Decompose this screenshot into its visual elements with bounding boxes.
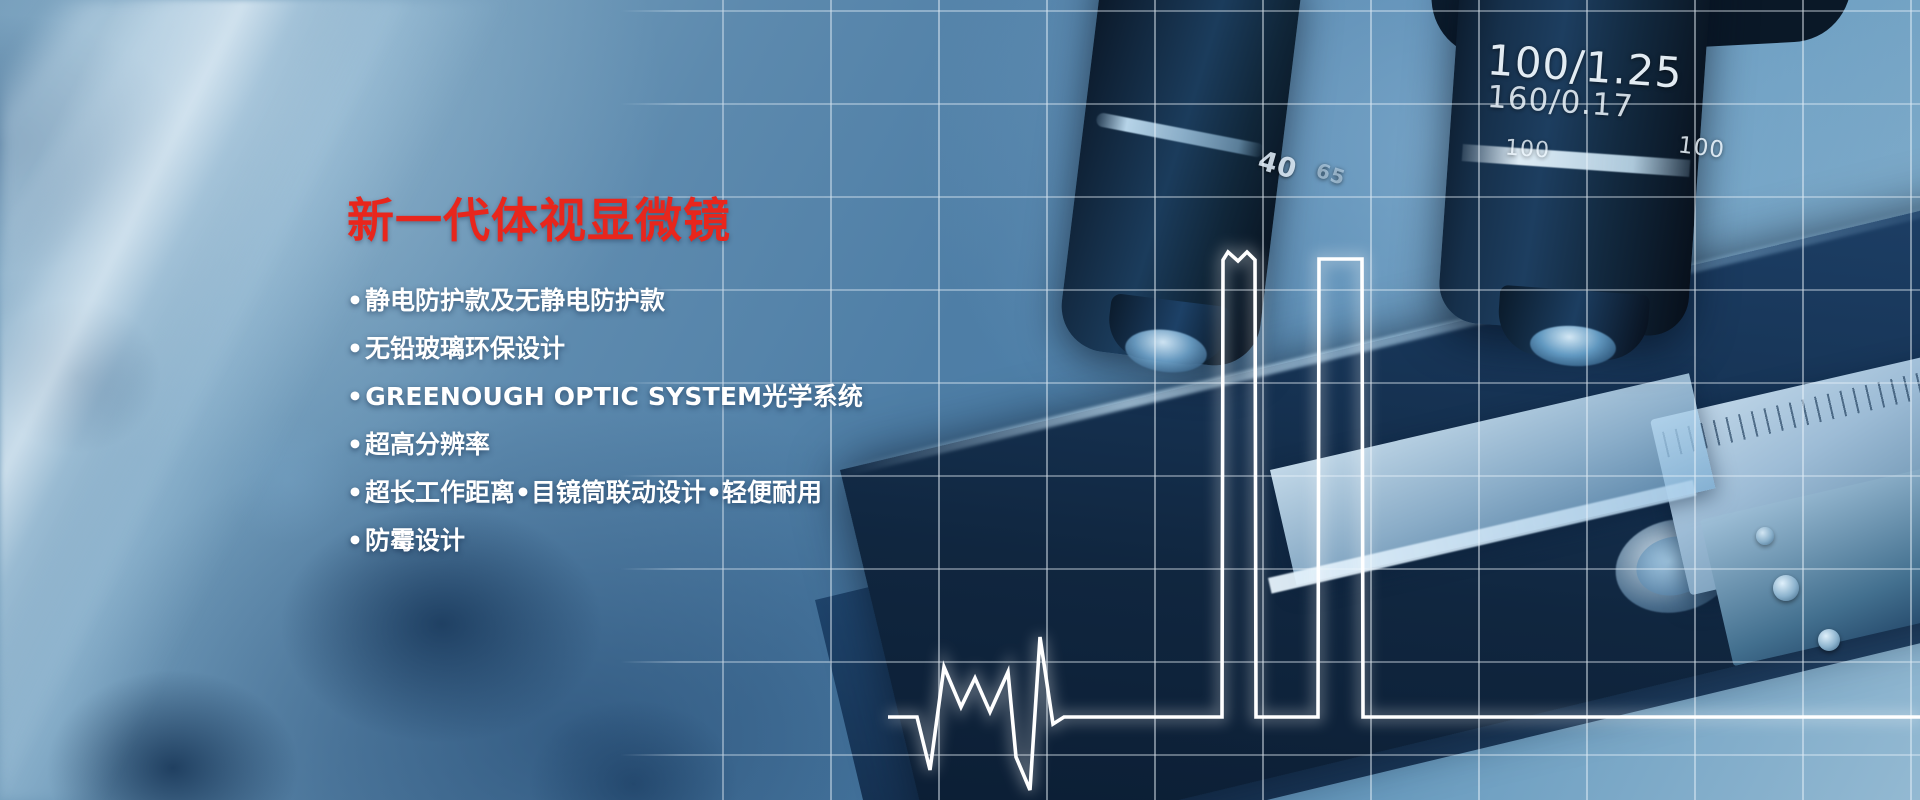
bullet-marker-icon: • [347,430,363,459]
feature-bullet-1: •静电防护款及无静电防护款 [347,288,967,313]
feature-bullet-4: •超高分辨率 [347,432,967,457]
banner-copy-block: 新一代体视显微镜 •静电防护款及无静电防护款 •无铅玻璃环保设计 •GREENO… [347,196,967,576]
feature-bullet-6: •防霉设计 [347,528,967,553]
feature-bullet-1-label: 静电防护款及无静电防护款 [365,286,665,315]
feature-bullet-5-label: 超长工作距离•目镜筒联动设计•轻便耐用 [365,478,822,507]
feature-bullet-3-label: GREENOUGH OPTIC SYSTEM光学系统 [365,382,863,411]
bullet-marker-icon: • [347,478,363,507]
bullet-marker-icon: • [347,286,363,315]
feature-bullet-5: •超长工作距离•目镜筒联动设计•轻便耐用 [347,480,967,505]
feature-bullet-6-label: 防霉设计 [365,526,465,555]
feature-bullet-3: •GREENOUGH OPTIC SYSTEM光学系统 [347,384,967,409]
bullet-marker-icon: • [347,526,363,555]
feature-bullet-2: •无铅玻璃环保设计 [347,336,967,361]
page-title: 新一代体视显微镜 [347,196,967,248]
bullet-marker-icon: • [347,382,363,411]
feature-bullet-2-label: 无铅玻璃环保设计 [365,334,565,363]
hero-banner: 40 65 100/1.25 160/0.17 100 100 新一代体视显微镜… [0,0,1920,800]
feature-bullet-4-label: 超高分辨率 [365,430,490,459]
bullet-marker-icon: • [347,334,363,363]
